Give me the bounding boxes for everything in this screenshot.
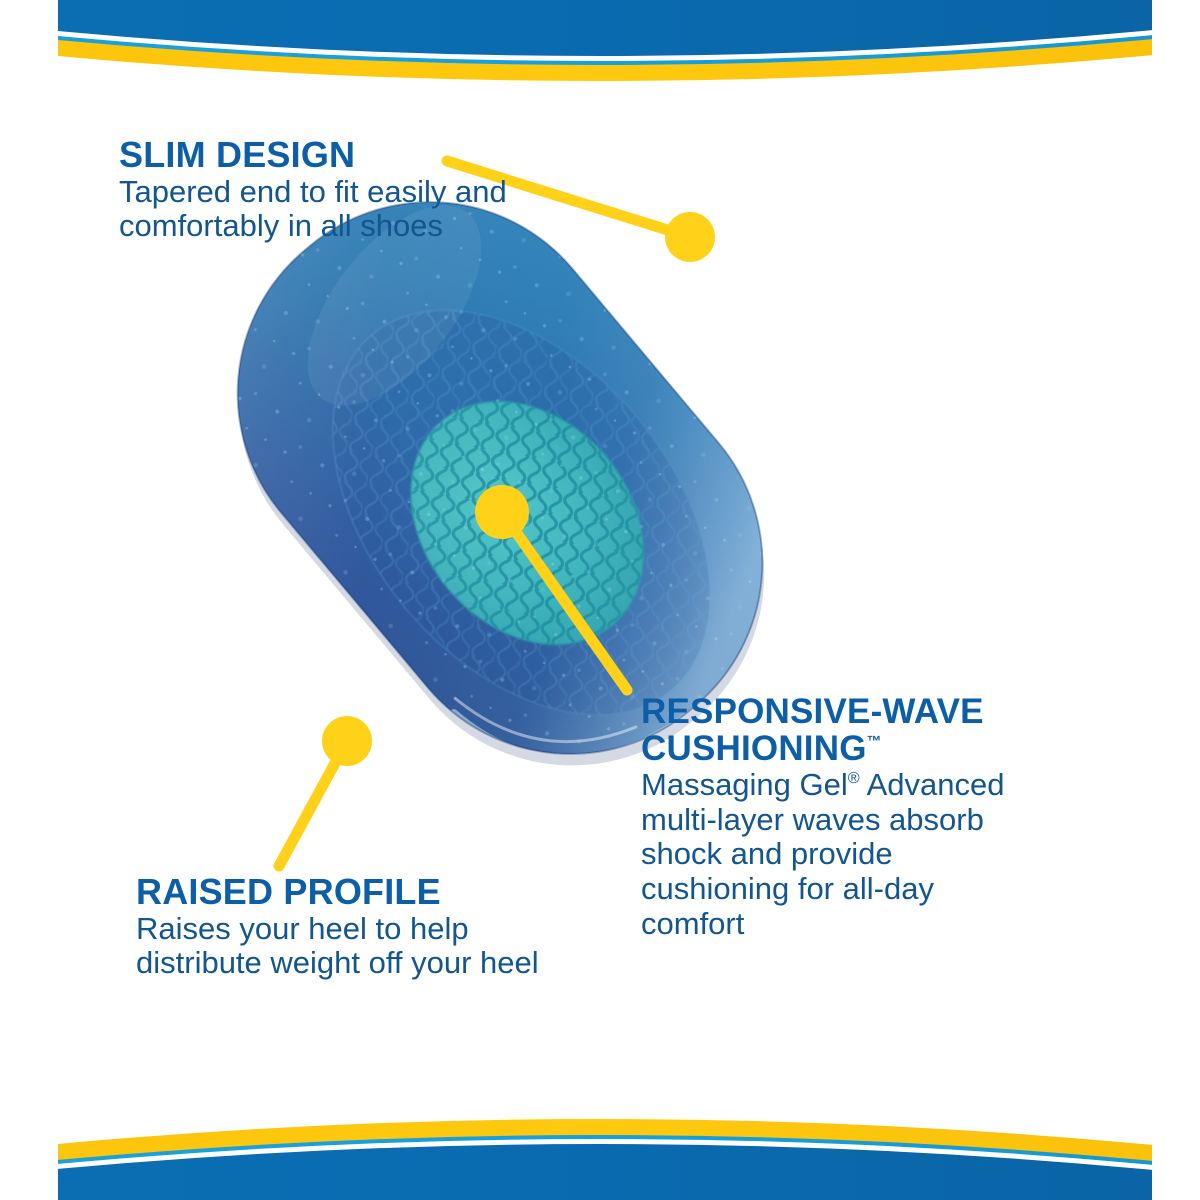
callout-raised-profile: RAISED PROFILE Raises your heel to help … [136,874,556,981]
callout-body-responsive-wave: Massaging Gel® Advanced multi-layer wave… [641,768,1041,942]
callout-dot-raised-profile [322,716,372,766]
callout-body-raised-profile: Raises your heel to help distribute weig… [136,912,556,981]
callout-dot-slim-design [665,212,715,262]
callout-dot-responsive-wave [475,485,529,539]
callout-heading-responsive-wave-line1: RESPONSIVE-WAVE [641,694,1041,729]
callout-heading-slim-design: SLIM DESIGN [119,137,519,173]
callout-heading-raised-profile: RAISED PROFILE [136,874,556,910]
registered-symbol: ® [848,769,860,787]
callout-heading-responsive-wave-line2: CUSHIONING™ [641,731,1041,766]
leader-line-responsive-wave [502,512,627,690]
trademark-symbol: ™ [867,734,882,750]
massaging-gel-text: Massaging Gel [641,767,848,802]
callout-responsive-wave-cushioning: RESPONSIVE-WAVE CUSHIONING™ Massaging Ge… [641,694,1041,942]
infographic-canvas: SLIM DESIGN Tapered end to fit easily an… [0,0,1200,1200]
callout-heading-cushioning-text: CUSHIONING [641,729,867,768]
callout-body-slim-design: Tapered end to fit easily and comfortabl… [119,175,519,244]
callout-slim-design: SLIM DESIGN Tapered end to fit easily an… [119,137,519,244]
